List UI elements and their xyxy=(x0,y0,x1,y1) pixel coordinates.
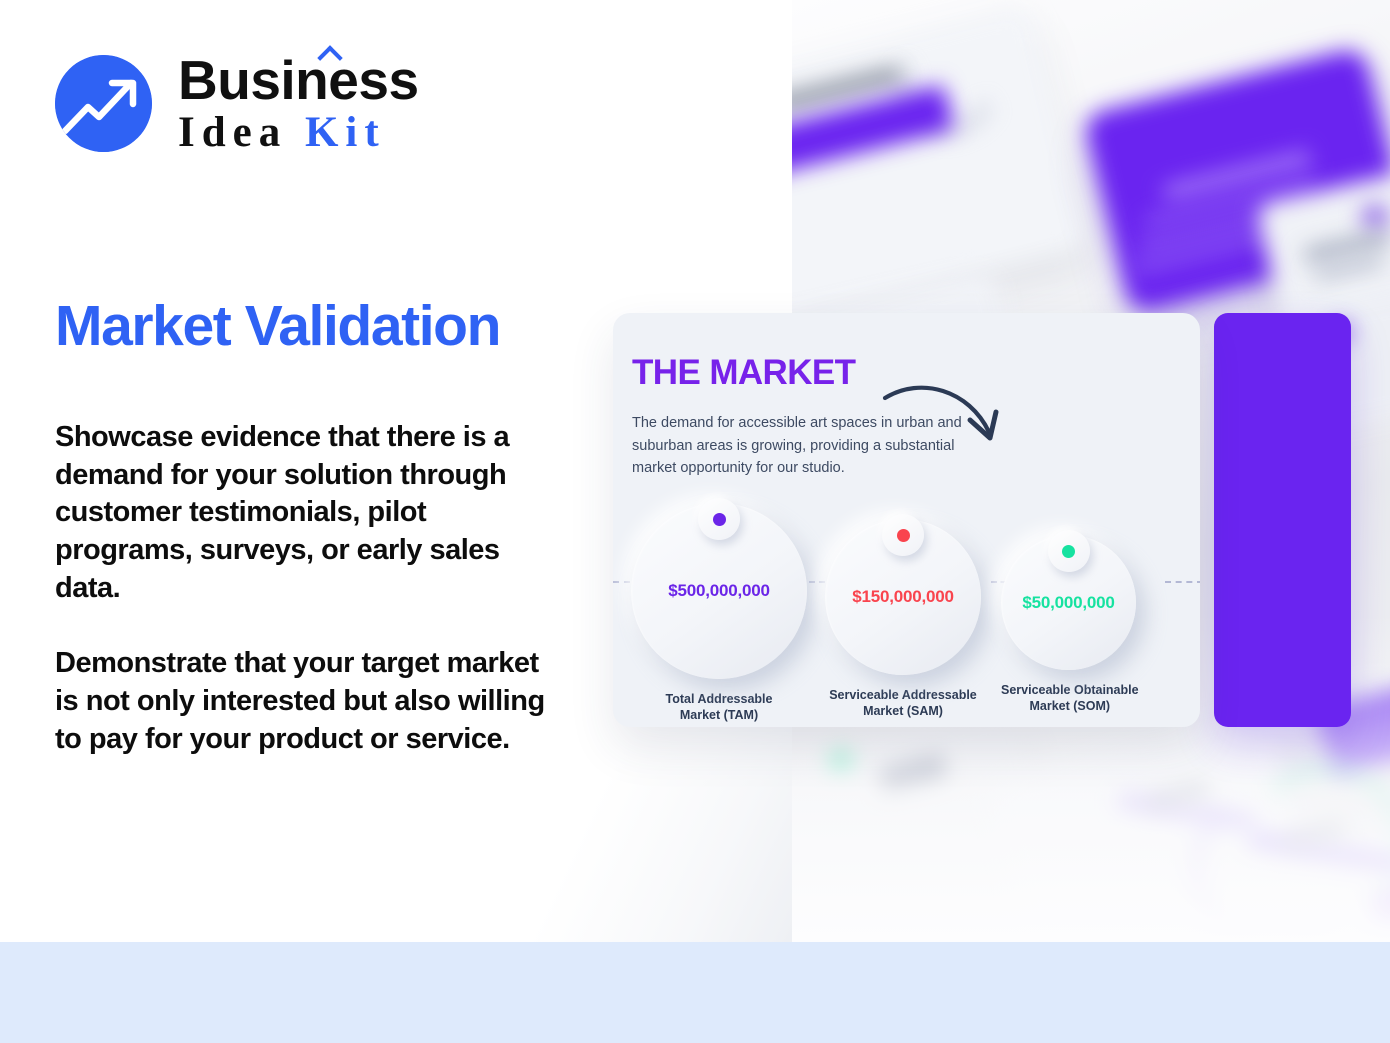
brand-line-business: Business xyxy=(178,52,419,108)
brand-line-idea-text: Idea xyxy=(178,109,287,156)
metric-label: Serviceable Obtainable Market (SOM) xyxy=(1001,683,1139,715)
metric-sam[interactable]: $150,000,000 Serviceable Addressable Mar… xyxy=(825,519,981,720)
metric-circle: $500,000,000 xyxy=(631,503,807,679)
market-card[interactable]: THE MARKET The demand for accessible art… xyxy=(613,313,1200,727)
brand-line-kit-text: Kit xyxy=(305,109,386,156)
metric-label-line1: Total Addressable xyxy=(631,692,807,708)
metric-label-line2: Market (TAM) xyxy=(631,708,807,724)
market-card-title: THE MARKET xyxy=(632,353,855,393)
metric-label: Total Addressable Market (TAM) xyxy=(631,692,807,724)
metric-tam[interactable]: $500,000,000 Total Addressable Market (T… xyxy=(631,503,807,724)
metric-label: Serviceable Addressable Market (SAM) xyxy=(825,688,981,720)
body-paragraph-1: Showcase evidence that there is a demand… xyxy=(55,419,565,607)
metric-label-line2: Market (SAM) xyxy=(825,704,981,720)
slide-canvas: Business Idea Kit Market Validation Show… xyxy=(0,0,1390,1043)
curved-arrow-down-right-icon xyxy=(881,360,1011,465)
metric-dot-red-icon xyxy=(897,529,910,542)
metric-label-line1: Serviceable Obtainable xyxy=(1001,683,1139,699)
body-paragraph-2: Demonstrate that your target market is n… xyxy=(55,645,565,758)
metric-value: $50,000,000 xyxy=(1022,593,1114,613)
metric-dot-green-icon xyxy=(1062,545,1075,558)
brand-line-business-text: Business xyxy=(178,49,419,111)
bg-dot-shape xyxy=(1362,204,1388,230)
market-metrics-row: $500,000,000 Total Addressable Market (T… xyxy=(613,503,1200,724)
bottom-accent-strip xyxy=(0,942,1390,1043)
metric-value: $500,000,000 xyxy=(668,581,770,601)
metric-label-line1: Serviceable Addressable xyxy=(825,688,981,704)
metric-dot-holder xyxy=(882,514,924,556)
metric-som[interactable]: $50,000,000 Serviceable Obtainable Marke… xyxy=(1001,535,1139,715)
metric-circle: $150,000,000 xyxy=(825,519,981,675)
metric-dot-purple-icon xyxy=(713,513,726,526)
brand-logo[interactable]: Business Idea Kit xyxy=(55,52,419,155)
brand-wordmark: Business Idea Kit xyxy=(178,52,419,155)
metric-dot-holder xyxy=(1048,530,1090,572)
growth-chart-circle-icon xyxy=(55,55,152,152)
metric-circle: $50,000,000 xyxy=(1001,535,1136,670)
metric-value: $150,000,000 xyxy=(852,587,954,607)
metric-label-line2: Market (SOM) xyxy=(1001,699,1139,715)
purple-accent-panel xyxy=(1214,313,1351,727)
body-copy: Showcase evidence that there is a demand… xyxy=(55,419,565,759)
page-title: Market Validation xyxy=(55,297,500,357)
brand-line-ideakit: Idea Kit xyxy=(178,110,419,155)
metric-dot-holder xyxy=(698,498,740,540)
